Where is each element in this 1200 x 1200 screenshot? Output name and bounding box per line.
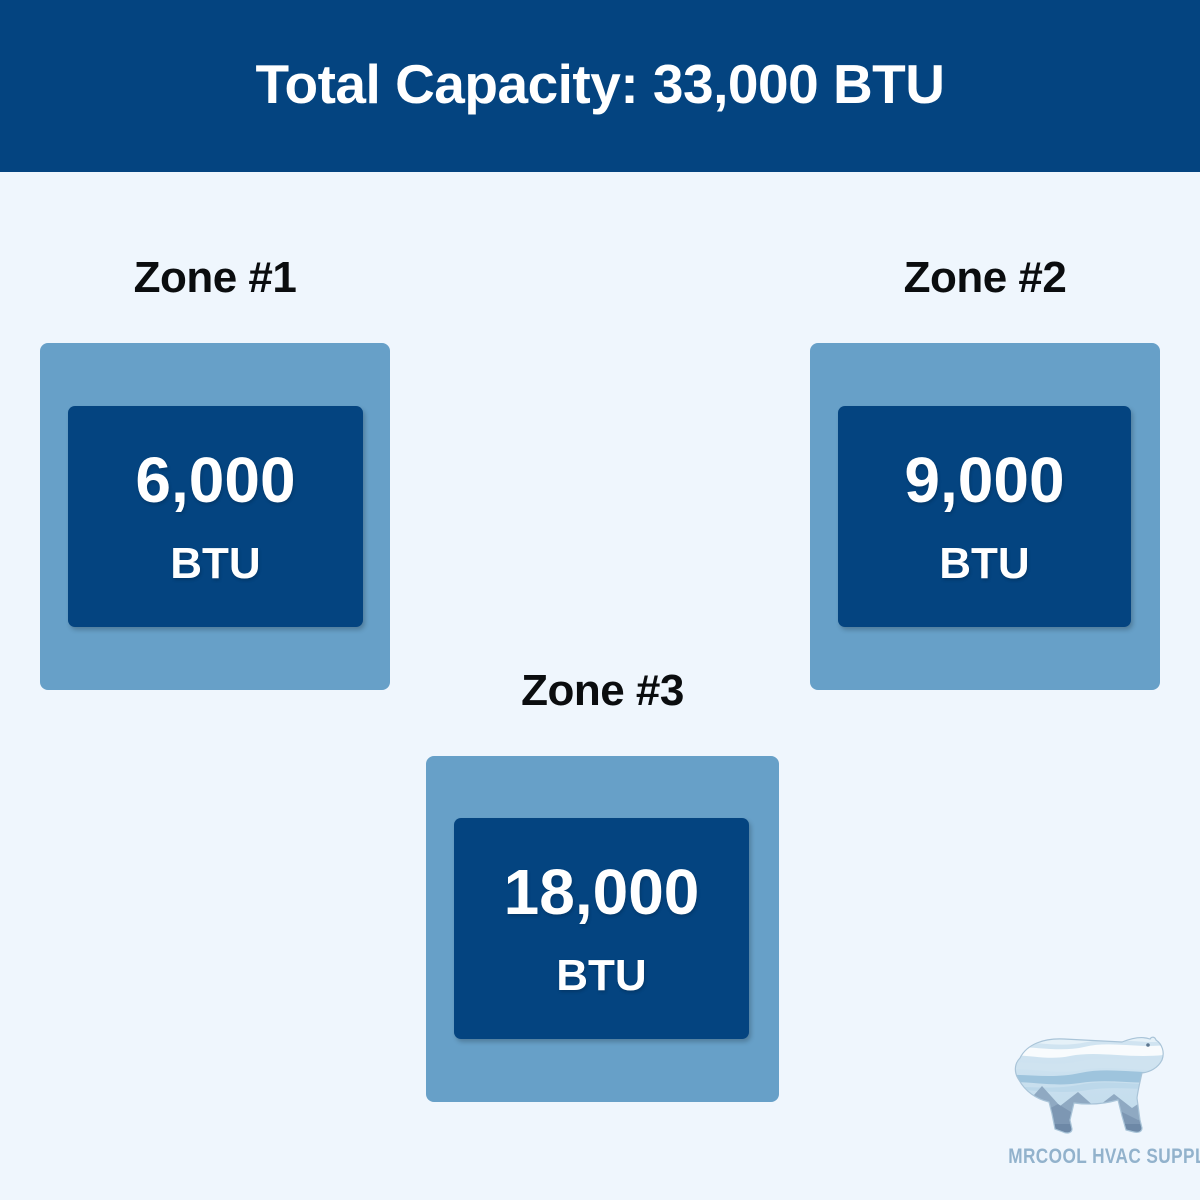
brand-logo: MRCOOL HVAC SUPPLY	[992, 1028, 1172, 1178]
zone-card-2: Zone #2 9,000 BTU	[810, 343, 1160, 690]
zone-2-unit: BTU	[939, 542, 1029, 586]
infographic-canvas: Total Capacity: 33,000 BTU Zone #1 6,000…	[0, 0, 1200, 1200]
zone-3-unit: BTU	[556, 954, 646, 998]
zone-card-3: Zone #3 18,000 BTU	[426, 756, 779, 1102]
logo-wordmark: MRCOOL HVAC SUPPLY	[1008, 1146, 1156, 1167]
zone-1-capacity-box: 6,000 BTU	[68, 406, 363, 627]
zone-card-1: Zone #1 6,000 BTU	[40, 343, 390, 690]
zone-2-label: Zone #2	[904, 256, 1067, 300]
zone-3-value: 18,000	[504, 860, 700, 924]
zone-1-unit: BTU	[170, 542, 260, 586]
polar-bear-icon	[992, 1028, 1172, 1146]
zone-1-value: 6,000	[135, 448, 295, 512]
zone-3-label: Zone #3	[521, 669, 684, 713]
zone-2-capacity-box: 9,000 BTU	[838, 406, 1131, 627]
zone-2-value: 9,000	[904, 448, 1064, 512]
zone-1-label: Zone #1	[134, 256, 297, 300]
header-banner: Total Capacity: 33,000 BTU	[0, 0, 1200, 172]
page-title: Total Capacity: 33,000 BTU	[256, 57, 945, 116]
zone-3-capacity-box: 18,000 BTU	[454, 818, 749, 1039]
